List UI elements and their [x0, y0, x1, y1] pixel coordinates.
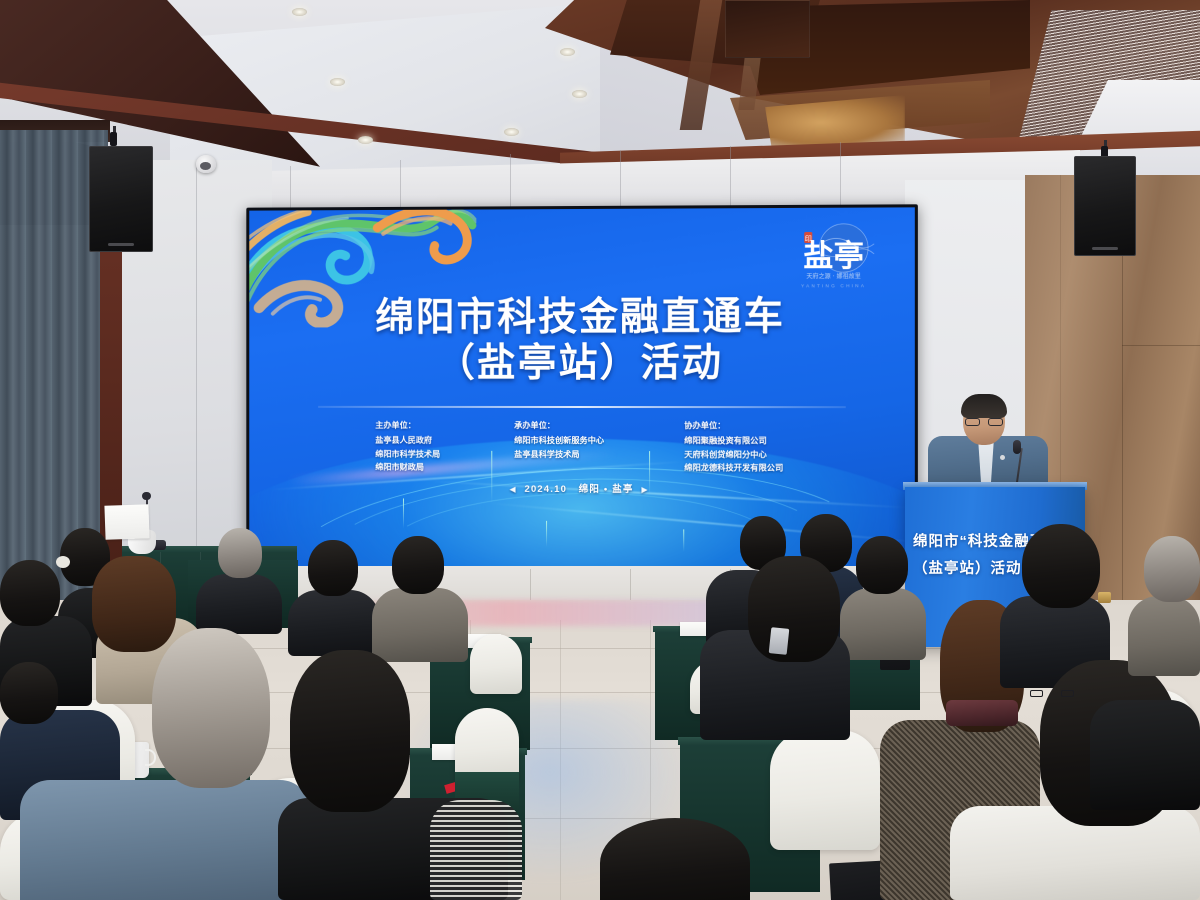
- organizer-column-coorganizer: 协办单位： 绵阳聚融投资有限公司 天府科创贷绵阳分中心 绵阳龙德科技开发有限公司: [684, 419, 846, 476]
- screen-title-line1: 绵阳市科技金融直通车: [249, 294, 915, 341]
- ceiling-spotlight: [292, 8, 307, 16]
- person-collar: [946, 700, 1018, 726]
- organizer-entry: 绵阳市财政局: [375, 461, 484, 475]
- chair: [470, 634, 522, 694]
- yanting-brand-logo: 印 盐亭 天府之源 · 嫘祖故里 YANTING CHINA: [781, 220, 892, 295]
- ceiling-recess-box: [725, 0, 810, 58]
- screen-data-tick: [403, 498, 404, 528]
- arrow-left-icon: ◀: [509, 485, 516, 494]
- person-head: [0, 662, 58, 724]
- screen-location-text: 绵阳 • 盐亭: [579, 484, 634, 495]
- organizer-entry: 绵阳市科学技术局: [375, 447, 484, 461]
- svg-text:盐亭: 盐亭: [803, 239, 864, 275]
- ceiling-spotlight: [504, 128, 519, 136]
- podium-microphone-head: [1013, 440, 1021, 454]
- smartphone: [769, 627, 790, 655]
- person-head: [1144, 536, 1200, 602]
- wall-panel-seam: [196, 165, 197, 585]
- person-head: [0, 560, 60, 626]
- person-head: [600, 818, 750, 900]
- person-head: [1022, 524, 1100, 608]
- svg-text:天府之源 · 嫘祖故里: 天府之源 · 嫘祖故里: [806, 272, 860, 280]
- screen-title-line2: （盐亭站）活动: [249, 341, 915, 388]
- person-head: [218, 528, 262, 578]
- presenter-hair: [961, 394, 1007, 418]
- screen-title-block: 绵阳市科技金融直通车 （盐亭站）活动: [249, 294, 915, 388]
- organizer-heading: 主办单位：: [375, 419, 484, 433]
- person-head: [92, 556, 176, 652]
- stage-wall-seam: [630, 569, 631, 603]
- person-head: [748, 556, 840, 662]
- screen-date-bar: ◀ 2024.10 绵阳 • 盐亭 ▶: [249, 480, 915, 496]
- organizer-entry: 绵阳龙德科技开发有限公司: [684, 462, 846, 476]
- screen-date-text: 2024.10: [524, 484, 567, 495]
- ceiling-spotlight: [358, 136, 373, 144]
- screen-data-tick: [683, 529, 684, 551]
- organizer-entry: 绵阳聚融投资有限公司: [684, 434, 846, 448]
- gold-cup: [1098, 592, 1111, 603]
- organizer-heading: 协办单位：: [684, 419, 846, 433]
- ceiling-spotlight: [572, 90, 587, 98]
- stage-wall-seam: [530, 569, 531, 603]
- organizer-column-undertaker: 承办单位： 绵阳市科技创新服务中心 盐亭县科学技术局: [514, 419, 654, 475]
- glasses-lens-left: [965, 418, 980, 426]
- soffit-seam: [840, 142, 841, 212]
- svg-text:YANTING CHINA: YANTING CHINA: [801, 283, 866, 288]
- organizer-entry: 天府科创贷绵阳分中心: [684, 448, 846, 462]
- organizer-entry: 绵阳市科技创新服务中心: [514, 434, 654, 448]
- dome-camera: [196, 155, 216, 173]
- speaker-bracket-left: [110, 132, 117, 146]
- person-head: [290, 650, 410, 812]
- person-head: [152, 628, 270, 788]
- organizer-column-host: 主办单位： 盐亭县人民政府 绵阳市科学技术局 绵阳市财政局: [375, 419, 484, 475]
- head-table-microphone-head: [142, 492, 151, 500]
- person-head: [856, 536, 908, 594]
- arrow-right-icon: ▶: [641, 485, 648, 494]
- glasses-lens-left: [1030, 690, 1043, 697]
- screen-divider-line: [318, 406, 846, 408]
- glasses-lens-right: [988, 418, 1003, 426]
- ceiling-spotlight: [330, 78, 345, 86]
- chair: [770, 730, 880, 850]
- ceiling-spotlight: [560, 48, 575, 56]
- organizer-heading: 承办单位：: [514, 419, 654, 433]
- wall-speaker-left: [89, 146, 153, 252]
- hair-clip: [56, 556, 70, 568]
- glasses-lens-right: [1061, 690, 1074, 697]
- name-card: [104, 504, 149, 540]
- screen-data-tick: [546, 521, 547, 547]
- organizer-columns: 主办单位： 盐亭县人民政府 绵阳市科学技术局 绵阳市财政局 承办单位： 绵阳市科…: [375, 419, 915, 476]
- person-head: [392, 536, 444, 594]
- person-head: [308, 540, 358, 596]
- presenter-lapel-pin: [1000, 455, 1005, 460]
- wall-speaker-right: [1074, 156, 1136, 256]
- conference-hall-photo: 印 盐亭 天府之源 · 嫘祖故里 YANTING CHINA 绵阳市科技金融直通…: [0, 0, 1200, 900]
- wood-panel-seam: [1122, 345, 1200, 346]
- person-glasses: [1030, 690, 1074, 697]
- organizer-entry: 盐亭县人民政府: [375, 434, 484, 448]
- organizer-entry: 盐亭县科学技术局: [514, 447, 654, 461]
- presenter-glasses: [965, 418, 1003, 426]
